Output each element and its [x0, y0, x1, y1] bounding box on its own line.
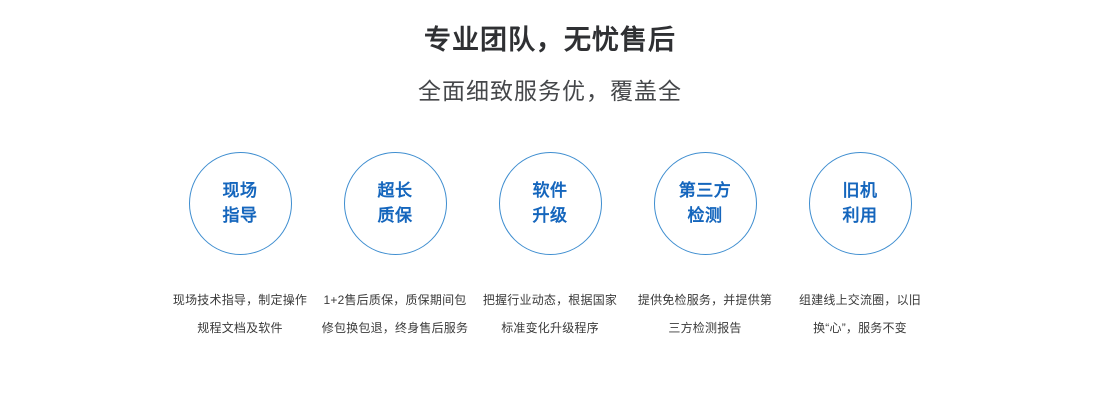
caption-line-1: 现场技术指导，制定操作: [165, 286, 316, 314]
feature-item-third-party-inspection: 第三方 检测: [653, 152, 757, 255]
feature-circle-label-line1: 软件: [533, 179, 568, 204]
page-title: 专业团队，无忧售后: [0, 24, 1100, 56]
feature-circles-row: 现场 指导 超长 质保 软件 升级 第三方 检测 旧机: [0, 152, 1100, 255]
feature-circle-label-line2: 质保: [378, 204, 413, 229]
feature-circle[interactable]: 旧机 利用: [809, 152, 912, 255]
feature-circle-label-line2: 利用: [843, 204, 878, 229]
caption-line-2: 修包换包退，终身售后服务: [320, 314, 471, 342]
caption-line-1: 把握行业动态，根据国家: [475, 286, 626, 314]
feature-caption-software-upgrade: 把握行业动态，根据国家 标准变化升级程序: [475, 286, 626, 342]
feature-circle-label-line2: 升级: [533, 204, 568, 229]
feature-caption-old-machine-reuse: 组建线上交流圈，以旧 换“心”，服务不变: [785, 286, 936, 342]
feature-item-extended-warranty: 超长 质保: [343, 152, 447, 255]
feature-circle-label-line1: 现场: [223, 179, 258, 204]
feature-circle-label-line1: 超长: [378, 179, 413, 204]
feature-circle-label-line1: 第三方: [679, 179, 732, 204]
feature-circle-label-line1: 旧机: [843, 179, 878, 204]
caption-line-1: 组建线上交流圈，以旧: [785, 286, 936, 314]
caption-line-1: 提供免检服务，并提供第: [630, 286, 781, 314]
caption-line-2: 标准变化升级程序: [475, 314, 626, 342]
feature-captions-row: 现场技术指导，制定操作 规程文档及软件 1+2售后质保，质保期间包 修包换包退，…: [0, 286, 1100, 342]
section-heading-block: 专业团队，无忧售后 全面细致服务优，覆盖全: [0, 24, 1100, 106]
feature-caption-onsite-guidance: 现场技术指导，制定操作 规程文档及软件: [165, 286, 316, 342]
feature-item-software-upgrade: 软件 升级: [498, 152, 602, 255]
after-sales-service-section: 专业团队，无忧售后 全面细致服务优，覆盖全 现场 指导 超长 质保 软件 升级 …: [0, 0, 1100, 404]
feature-circle-label-line2: 指导: [223, 204, 258, 229]
caption-line-2: 三方检测报告: [630, 314, 781, 342]
feature-caption-extended-warranty: 1+2售后质保，质保期间包 修包换包退，终身售后服务: [320, 286, 471, 342]
feature-circle[interactable]: 超长 质保: [344, 152, 447, 255]
caption-line-2: 换“心”，服务不变: [785, 314, 936, 342]
page-subtitle: 全面细致服务优，覆盖全: [0, 78, 1100, 106]
caption-line-2: 规程文档及软件: [165, 314, 316, 342]
feature-circle[interactable]: 第三方 检测: [654, 152, 757, 255]
feature-circle-label-line2: 检测: [688, 204, 723, 229]
feature-caption-third-party-inspection: 提供免检服务，并提供第 三方检测报告: [630, 286, 781, 342]
feature-circle[interactable]: 现场 指导: [189, 152, 292, 255]
feature-item-old-machine-reuse: 旧机 利用: [808, 152, 912, 255]
feature-item-onsite-guidance: 现场 指导: [188, 152, 292, 255]
feature-circle[interactable]: 软件 升级: [499, 152, 602, 255]
caption-line-1: 1+2售后质保，质保期间包: [320, 286, 471, 314]
